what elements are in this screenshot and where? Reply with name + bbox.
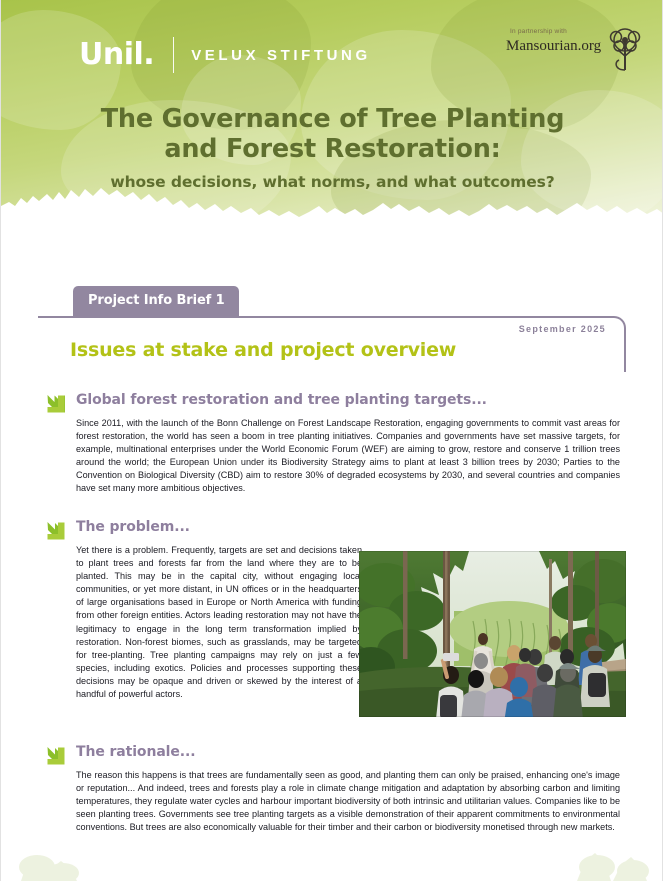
header-banner: Unil. VELUX STIFTUNG In partnership with…: [1, 0, 663, 240]
subsection-heading: Global forest restoration and tree plant…: [76, 391, 620, 409]
partner-name: Mansourian.org: [506, 38, 601, 55]
tree-icon: [608, 26, 642, 83]
content-section-rationale: The rationale... The reason this happens…: [45, 743, 620, 834]
section-frame: September 2025 Issues at stake and proje…: [38, 316, 626, 372]
forest-group-photo: [359, 551, 626, 717]
subsection-heading: The rationale...: [76, 743, 620, 761]
logo-row: Unil. VELUX STIFTUNG: [79, 33, 371, 77]
title-line-1: The Governance of Tree Planting: [1, 104, 663, 134]
partner-logo: In partnership with Mansourian.org: [504, 26, 644, 78]
tree-silhouette-divider: [1, 170, 663, 240]
subsection-body: Yet there is a problem. Frequently, targ…: [76, 544, 362, 701]
footer-tree-silhouette: [1, 837, 663, 881]
publication-date: September 2025: [519, 324, 606, 334]
logo-divider: [173, 37, 174, 73]
arrow-down-right-icon: [45, 745, 67, 767]
subsection-heading: The problem...: [76, 518, 620, 536]
velux-stiftung-label: VELUX STIFTUNG: [191, 48, 371, 63]
unil-logo: Unil.: [79, 40, 154, 70]
arrow-down-right-icon: [45, 520, 67, 542]
page-title: Issues at stake and project overview: [70, 339, 456, 361]
subsection-body: Since 2011, with the launch of the Bonn …: [76, 417, 620, 496]
subsection-body: The reason this happens is that trees ar…: [76, 769, 620, 834]
partnership-prefix: In partnership with: [510, 28, 567, 35]
project-brief-tab[interactable]: Project Info Brief 1: [73, 286, 239, 316]
arrow-down-right-icon: [45, 393, 67, 415]
content-section-targets: Global forest restoration and tree plant…: [45, 391, 620, 496]
title-line-2: and Forest Restoration:: [1, 134, 663, 164]
document-page: Unil. VELUX STIFTUNG In partnership with…: [0, 0, 663, 881]
